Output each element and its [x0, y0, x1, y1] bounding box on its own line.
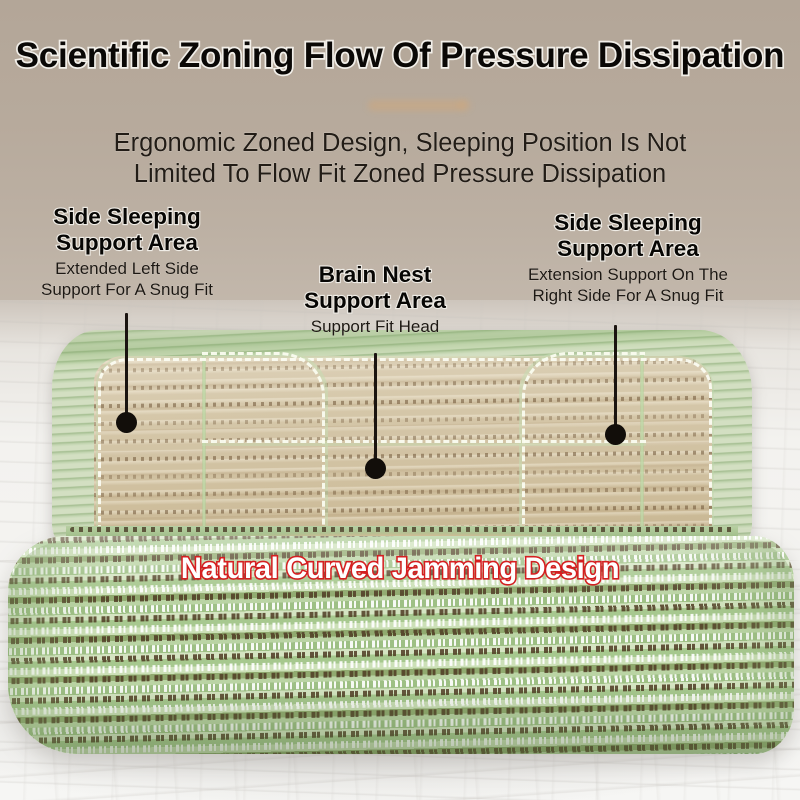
- callout-center-heading-line-1: Brain Nest: [275, 262, 475, 288]
- callout-left-heading-line-2: Support Area: [20, 230, 234, 256]
- pillow-lower-bottom-shadow: [8, 684, 794, 754]
- callout-right-heading-line-1: Side Sleeping: [504, 210, 752, 236]
- leader-line-right: [614, 325, 617, 431]
- page-subtitle: Ergonomic Zoned Design, Sleeping Positio…: [0, 128, 800, 190]
- pillow-upper: [52, 330, 752, 560]
- watermark-artifact-bar: [368, 100, 464, 111]
- callout-right-sub-line-2: Right Side For A Snug Fit: [504, 285, 752, 306]
- leader-dot-center: [365, 458, 386, 479]
- page-subtitle-line-2: Limited To Flow Fit Zoned Pressure Dissi…: [0, 159, 800, 190]
- callout-center-sub-line-1: Support Fit Head: [275, 316, 475, 337]
- callout-left-zone: Side Sleeping Support Area Extended Left…: [20, 204, 234, 300]
- callout-left-sub-line-2: Support For A Snug Fit: [20, 279, 234, 300]
- page-subtitle-line-1: Ergonomic Zoned Design, Sleeping Positio…: [0, 128, 800, 159]
- pillow-upper-bottom-stitching: [70, 527, 734, 532]
- page-title: Scientific Zoning Flow Of Pressure Dissi…: [0, 36, 800, 76]
- leader-line-left: [125, 313, 128, 419]
- watermark-artifact-dot: [458, 99, 470, 111]
- infographic-canvas: Scientific Zoning Flow Of Pressure Dissi…: [0, 0, 800, 800]
- callout-right-zone: Side Sleeping Support Area Extension Sup…: [504, 210, 752, 306]
- pillow-upper-body: [52, 330, 752, 552]
- callout-right-sub-line-1: Extension Support On The: [504, 264, 752, 285]
- banner-label: Natural Curved Jamming Design: [12, 552, 788, 586]
- callout-center-zone: Brain Nest Support Area Support Fit Head: [275, 262, 475, 337]
- callout-left-sub-line-1: Extended Left Side: [20, 258, 234, 279]
- callout-left-heading-line-1: Side Sleeping: [20, 204, 234, 230]
- zone-divider-center-bar: [202, 440, 646, 443]
- callout-right-heading-line-2: Support Area: [504, 236, 752, 262]
- zone-divider-left: [202, 352, 325, 545]
- callout-center-heading-line-2: Support Area: [275, 288, 475, 314]
- zone-divider-right: [522, 352, 645, 545]
- leader-line-center: [374, 353, 377, 465]
- leader-dot-left: [116, 412, 137, 433]
- leader-dot-right: [605, 424, 626, 445]
